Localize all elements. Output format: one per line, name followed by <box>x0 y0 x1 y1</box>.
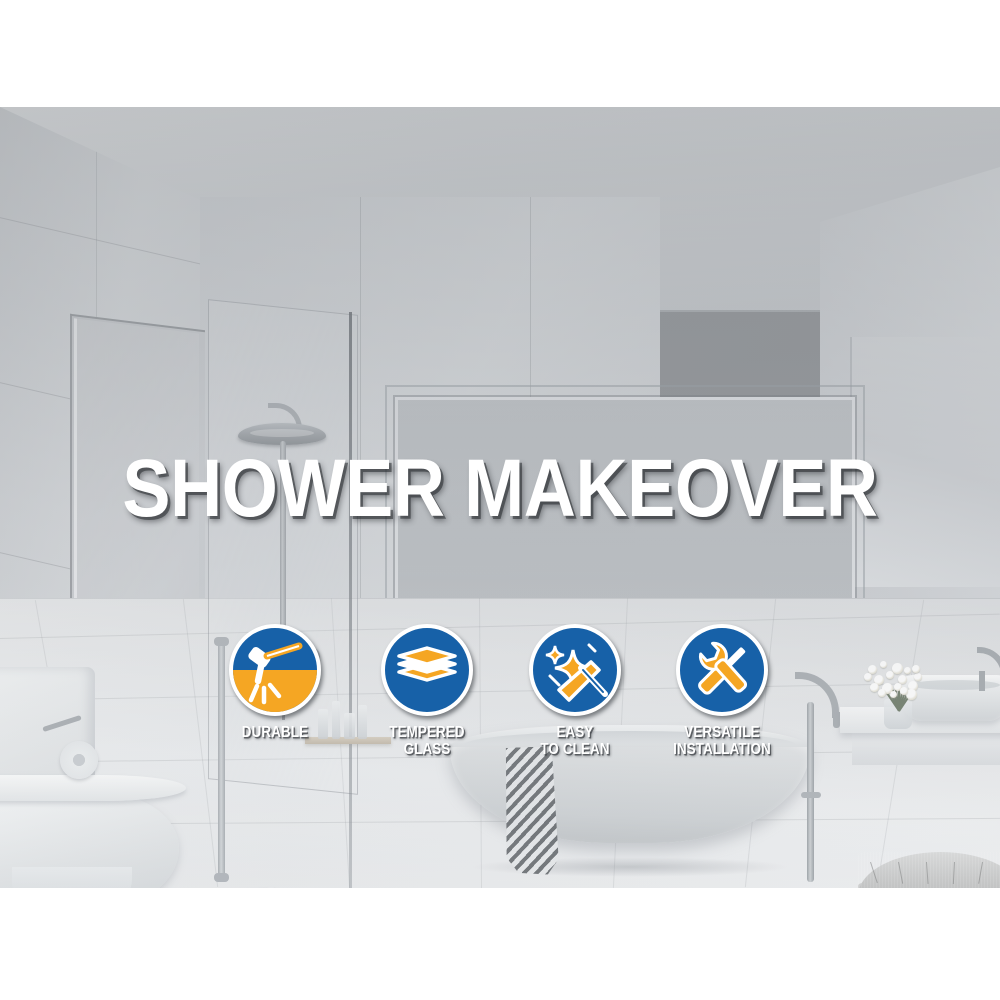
stacked-glass-layers-icon <box>381 624 473 716</box>
tufted-ottoman <box>858 852 1000 888</box>
top-white-band <box>0 0 1000 107</box>
tile-line <box>0 217 215 268</box>
faucet-handle <box>801 792 821 798</box>
feature-list: DURABLE TEMPERED GLASS <box>0 624 1000 784</box>
page-title: SHOWER MAKEOVER <box>60 452 940 526</box>
feature-versatile-installation: VERSATILE INSTALLATION <box>647 624 797 758</box>
sparkle-squeegee-icon <box>529 624 621 716</box>
feature-label: TEMPERED GLASS <box>363 724 492 758</box>
squeegee-impact-icon <box>229 624 321 716</box>
feature-label: EASY TO CLEAN <box>511 724 640 758</box>
product-banner: SHOWER MAKEOVER <box>0 0 1000 1000</box>
toilet-base <box>12 867 132 888</box>
screwdriver-wrench-icon <box>676 624 768 716</box>
feature-label: VERSATILE INSTALLATION <box>658 724 787 758</box>
feature-label: DURABLE <box>211 724 340 741</box>
feature-easy-to-clean: EASY TO CLEAN <box>500 624 650 758</box>
bottom-white-band <box>0 888 1000 1000</box>
feature-durable: DURABLE <box>200 624 350 741</box>
feature-tempered-glass: TEMPERED GLASS <box>352 624 502 758</box>
